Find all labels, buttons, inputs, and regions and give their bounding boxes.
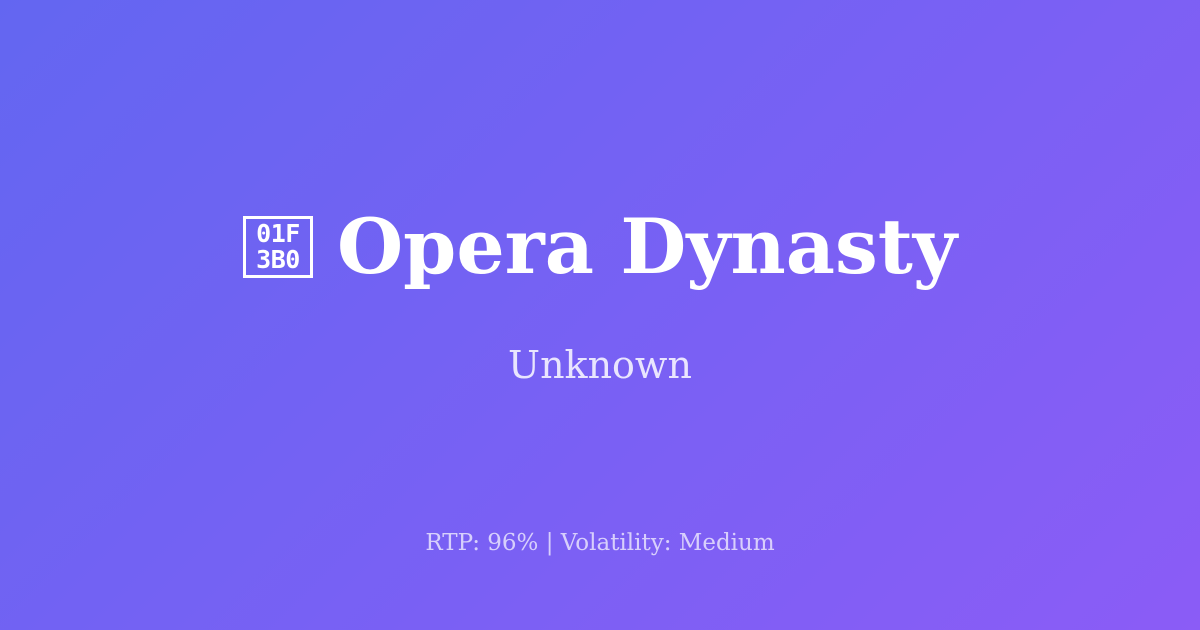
tofu-codepoint-top: 01F [256,221,300,247]
og-share-card: 01F 3B0 Opera Dynasty Unknown RTP: 96% |… [0,0,1200,630]
title-row: 01F 3B0 Opera Dynasty [0,205,1200,289]
slot-machine-emoji-tofu-icon: 01F 3B0 [243,216,313,278]
hero-group: 01F 3B0 Opera Dynasty Unknown [0,205,1200,388]
tofu-codepoint-bottom: 3B0 [256,247,300,273]
page-title: Opera Dynasty [337,205,957,289]
game-stats-footer: RTP: 96% | Volatility: Medium [0,530,1200,558]
page-subtitle: Unknown [508,343,692,389]
